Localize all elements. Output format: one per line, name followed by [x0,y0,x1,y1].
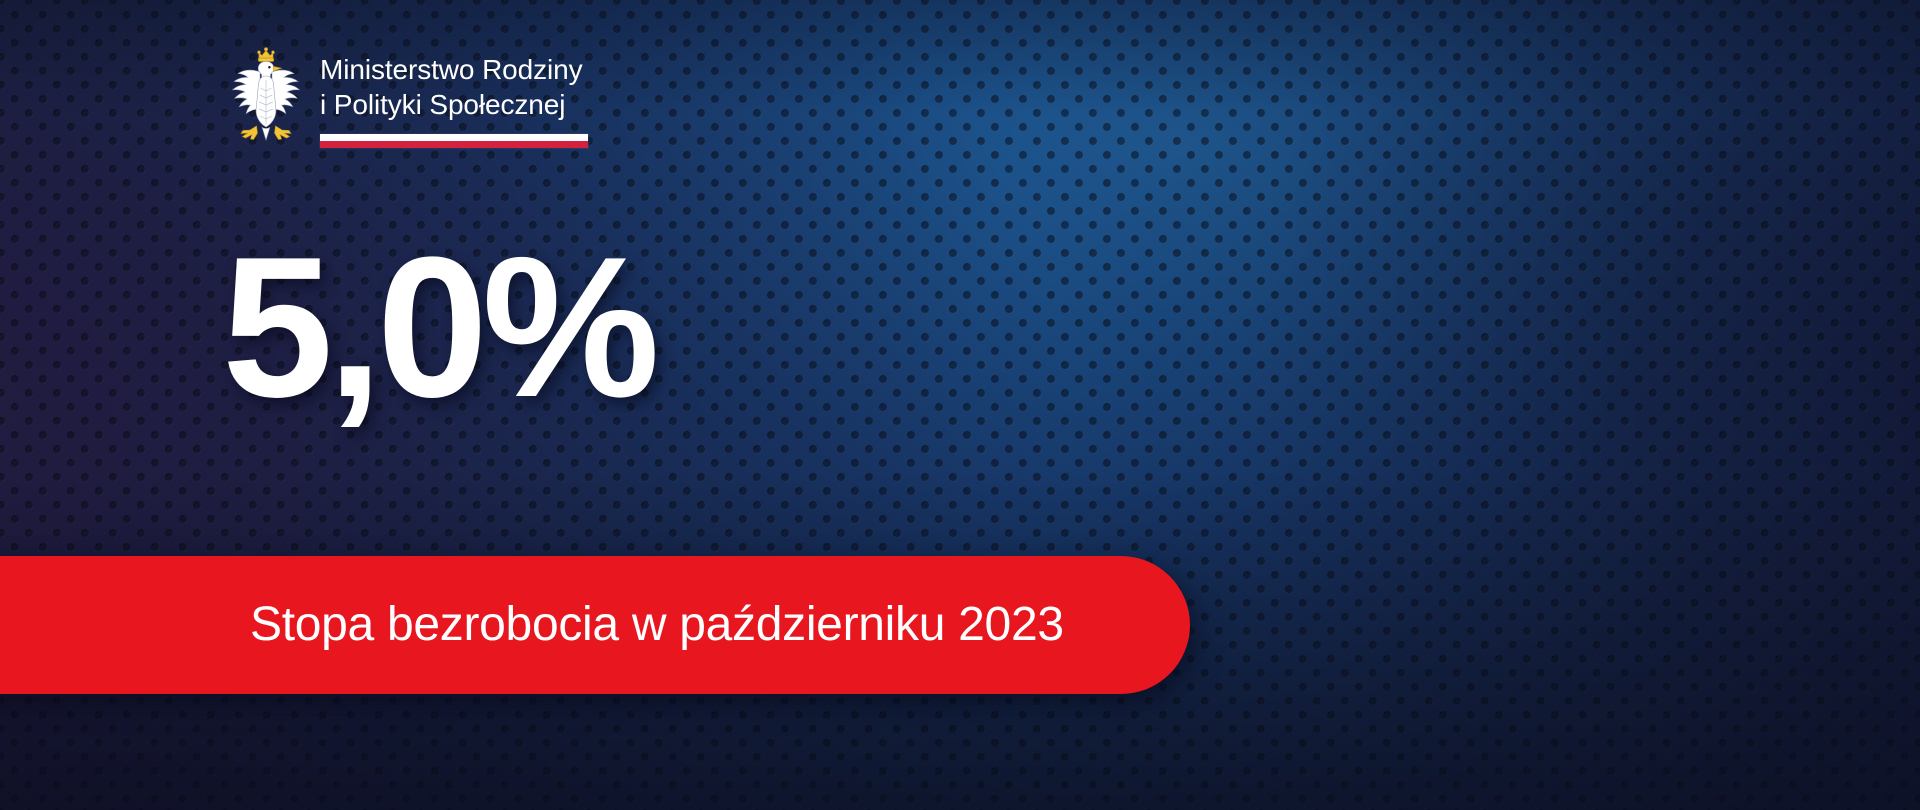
caption-banner-label: Stopa bezrobocia w październiku 2023 [250,598,1064,652]
polish-flag-bar [320,134,588,148]
ministry-name-line-1: Ministerstwo Rodziny [320,52,588,87]
ministry-logo-lockup: Ministerstwo Rodziny i Polityki Społeczn… [226,44,588,148]
ministry-name-line-2: i Polityki Społecznej [320,87,588,122]
infographic-poster: Ministerstwo Rodziny i Polityki Społeczn… [0,0,1920,810]
headline-statistic: 5,0% [222,228,654,428]
caption-banner: Stopa bezrobocia w październiku 2023 [0,556,1190,694]
ministry-logo-text: Ministerstwo Rodziny i Polityki Społeczn… [320,44,588,148]
flag-stripe-red [320,141,588,148]
polish-eagle-emblem-icon [226,44,306,148]
flag-stripe-white [320,134,588,141]
